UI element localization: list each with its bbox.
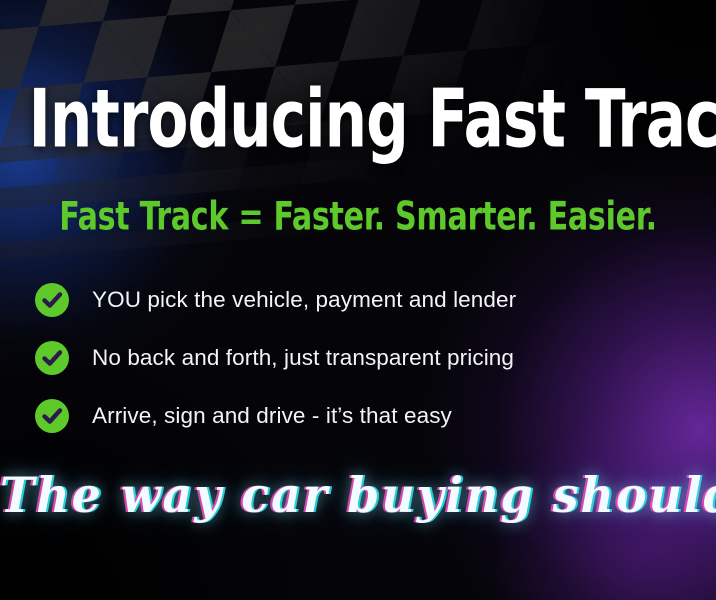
list-item-label: No back and forth, just transparent pric…	[92, 346, 514, 371]
check-circle-icon	[34, 398, 70, 434]
page-subtitle: Fast Track = Faster. Smarter. Easier.	[25, 198, 691, 237]
list-item-label: YOU pick the vehicle, payment and lender	[92, 288, 516, 313]
poster-content: Introducing Fast Track Fast Track = Fast…	[0, 0, 716, 600]
check-circle-icon	[34, 282, 70, 318]
tagline-script: The way car buying should be.	[0, 467, 716, 524]
promo-poster: Introducing Fast Track Fast Track = Fast…	[0, 0, 716, 600]
page-title: Introducing Fast Track	[29, 78, 688, 159]
list-item: No back and forth, just transparent pric…	[34, 340, 682, 376]
list-item: YOU pick the vehicle, payment and lender	[34, 282, 682, 318]
list-item: Arrive, sign and drive - it’s that easy	[34, 398, 682, 434]
check-circle-icon	[34, 340, 70, 376]
list-item-label: Arrive, sign and drive - it’s that easy	[92, 404, 452, 429]
benefits-list: YOU pick the vehicle, payment and lender…	[34, 282, 682, 434]
